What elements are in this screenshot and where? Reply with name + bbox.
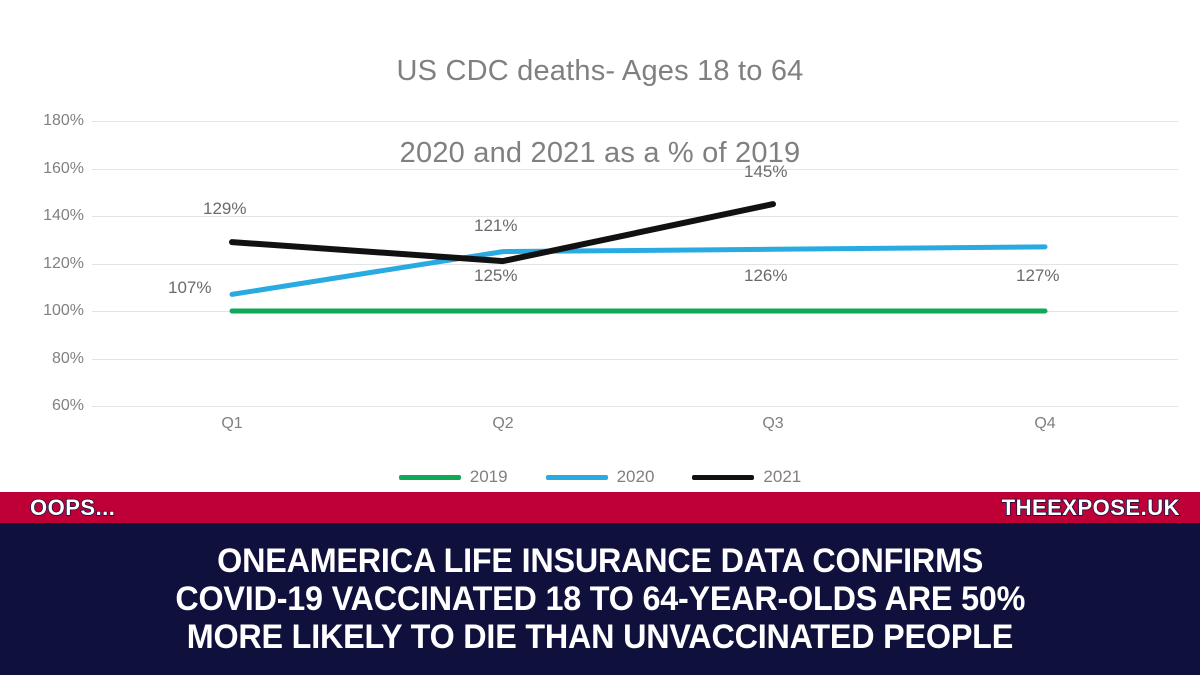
data-label-2021-q1: 129% — [203, 199, 246, 219]
data-label-2020-q3: 126% — [744, 266, 787, 286]
legend-label-2021: 2021 — [763, 467, 801, 487]
headline-banner: ONEAMERICA LIFE INSURANCE DATA CONFIRMS … — [0, 523, 1200, 675]
legend-item-2019[interactable]: 2019 — [399, 467, 508, 487]
data-label-2020-q1: 107% — [168, 278, 211, 298]
chart-legend: 2019 2020 2021 — [0, 462, 1200, 492]
legend-swatch-2021 — [692, 475, 754, 480]
legend-swatch-2020 — [546, 475, 608, 480]
headline-line-1: ONEAMERICA LIFE INSURANCE DATA CONFIRMS — [217, 542, 983, 580]
chart-title-line-1: US CDC deaths- Ages 18 to 64 — [397, 55, 804, 87]
data-label-2020-q4: 127% — [1016, 266, 1059, 286]
legend-label-2020: 2020 — [617, 467, 655, 487]
site-watermark: THEEXPOSE.UK — [1002, 492, 1180, 523]
legend-swatch-2019 — [399, 475, 461, 480]
legend-label-2019: 2019 — [470, 467, 508, 487]
headline-line-3: MORE LIKELY TO DIE THAN UNVACCINATED PEO… — [187, 618, 1013, 656]
chart-panel: US CDC deaths- Ages 18 to 64 2020 and 20… — [0, 0, 1200, 492]
series-lines — [0, 100, 1200, 430]
legend-item-2021[interactable]: 2021 — [692, 467, 801, 487]
series-line-2020 — [232, 247, 1045, 295]
headline-line-2: COVID-19 VACCINATED 18 TO 64-YEAR-OLDS A… — [175, 580, 1025, 618]
oops-label: OOPS... — [30, 492, 115, 523]
plot-area: 180% 160% 140% 120% 100% 80% 60% Q1 Q2 Q… — [0, 100, 1200, 430]
data-label-2021-q3: 145% — [744, 162, 787, 182]
data-label-2021-q2: 121% — [474, 216, 517, 236]
legend-item-2020[interactable]: 2020 — [546, 467, 655, 487]
data-label-2020-q2: 125% — [474, 266, 517, 286]
branding-bar: OOPS... THEEXPOSE.UK — [0, 492, 1200, 523]
